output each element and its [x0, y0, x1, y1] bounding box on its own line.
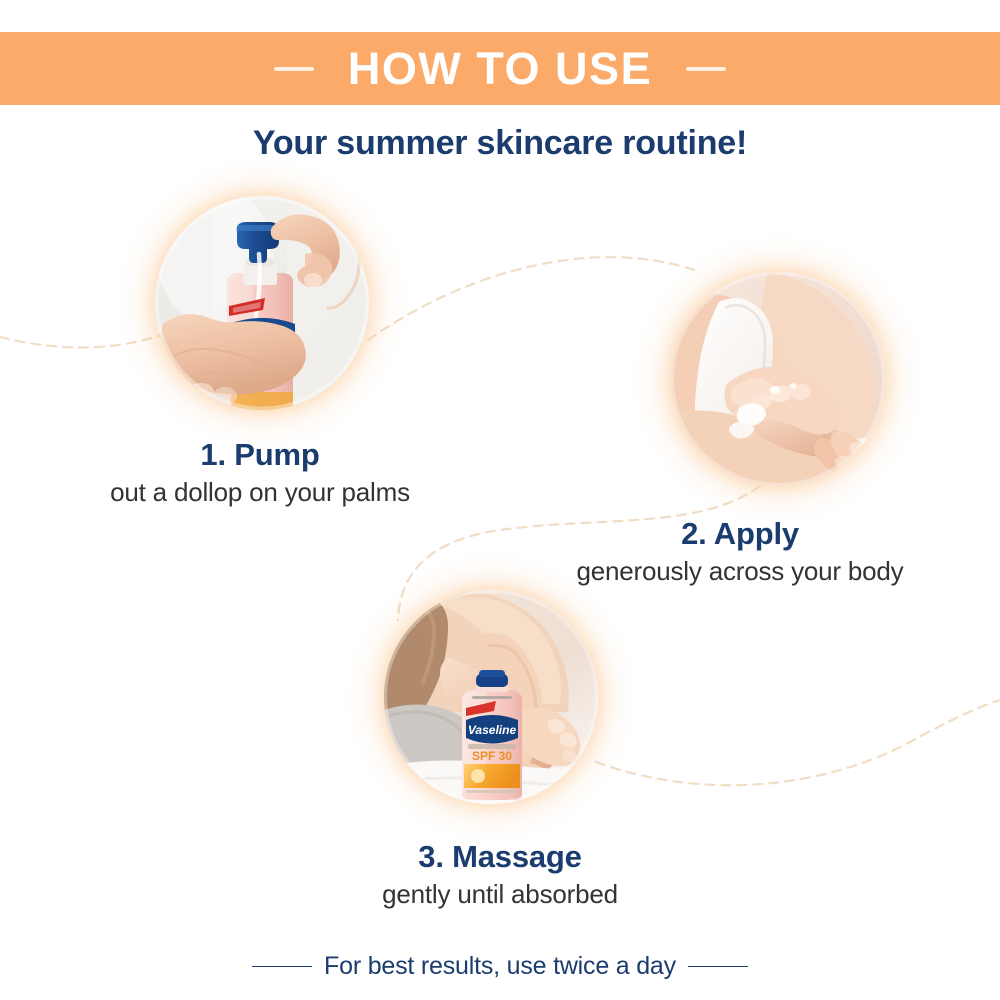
- page-subtitle: Your summer skincare routine!: [0, 124, 1000, 163]
- footer-rule-right: [688, 966, 748, 967]
- banner-dash-right-icon: [686, 67, 726, 71]
- step-3-title: 3. Massage: [240, 840, 760, 874]
- page-title: HOW TO USE: [348, 46, 652, 91]
- step-1-title: 1. Pump: [0, 438, 520, 472]
- how-to-use-infographic: HOW TO USE Your summer skincare routine!: [0, 0, 1000, 1000]
- footer-rule-left: [252, 966, 312, 967]
- step-1-image: Vaseline HEALTHY BRIGHT: [155, 196, 369, 410]
- hand-pumping-vaseline-bottle-photo: Vaseline HEALTHY BRIGHT: [155, 196, 369, 410]
- svg-text:Vaseline: Vaseline: [468, 723, 517, 737]
- header-banner: HOW TO USE: [0, 32, 1000, 105]
- banner-dash-left-icon: [274, 67, 314, 71]
- hands-applying-lotion-photo: [671, 272, 885, 486]
- step-2-image: [671, 272, 885, 486]
- step-2-caption: 2. Apply generously across your body: [480, 517, 1000, 587]
- step-3-caption: 3. Massage gently until absorbed: [240, 840, 760, 910]
- step-1-caption: 1. Pump out a dollop on your palms: [0, 438, 520, 508]
- footer: For best results, use twice a day: [0, 952, 1000, 981]
- step-1-subtitle: out a dollop on your palms: [0, 477, 520, 508]
- step-3-subtitle: gently until absorbed: [240, 879, 760, 910]
- svg-text:SPF 30: SPF 30: [472, 749, 512, 763]
- woman-massaging-leg-with-bottle-photo: Vaseline SPF 30: [384, 590, 598, 804]
- step-2-title: 2. Apply: [480, 517, 1000, 551]
- footer-text: For best results, use twice a day: [324, 952, 676, 981]
- step-3-image: Vaseline SPF 30: [384, 590, 598, 804]
- step-2-subtitle: generously across your body: [480, 556, 1000, 587]
